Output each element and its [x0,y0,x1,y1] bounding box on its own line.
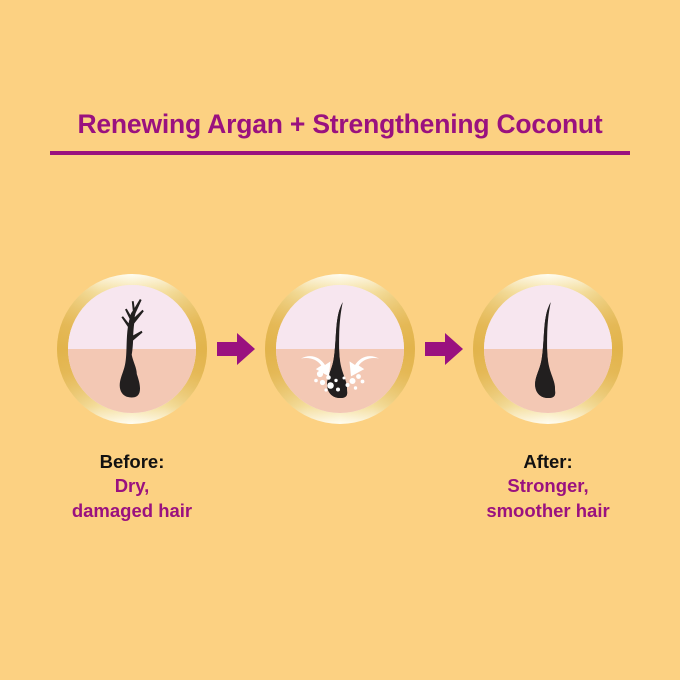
steps-row [0,274,680,424]
caption-after: After: Stronger, smoother hair [473,450,623,523]
title-divider [50,151,630,155]
caption-after-head: After: [473,450,623,474]
caption-after-line1: Stronger, [473,474,623,498]
scalp-disc-after [484,285,612,413]
caption-before-line1: Dry, [57,474,207,498]
scalp-disc-before [68,285,196,413]
arrow-1 [207,274,265,424]
arrow-2 [415,274,473,424]
step-after [473,274,623,424]
step-treatment [265,274,415,424]
caption-before: Before: Dry, damaged hair [57,450,207,523]
caption-before-body: Dry, damaged hair [57,474,207,523]
arrow-right-icon [217,333,255,365]
healthy-hair-follicle-icon [484,285,612,413]
nutrient-arrow-left-icon [301,356,331,376]
scalp-disc-treatment [276,285,404,413]
captions-row: Before: Dry, damaged hair After: Stronge… [0,450,680,560]
nourishing-follicle-icon [276,285,404,413]
page-title: Renewing Argan + Strengthening Coconut [0,110,680,139]
nutrient-arrow-right-icon [350,356,380,376]
caption-after-body: Stronger, smoother hair [473,474,623,523]
caption-before-head: Before: [57,450,207,474]
caption-before-line2: damaged hair [57,499,207,523]
damaged-hair-follicle-icon [68,285,196,413]
caption-after-line2: smoother hair [473,499,623,523]
arrow-right-icon [425,333,463,365]
step-before [57,274,207,424]
header: Renewing Argan + Strengthening Coconut [0,110,680,155]
hair-treatment-infographic: Renewing Argan + Strengthening Coconut [0,0,680,680]
